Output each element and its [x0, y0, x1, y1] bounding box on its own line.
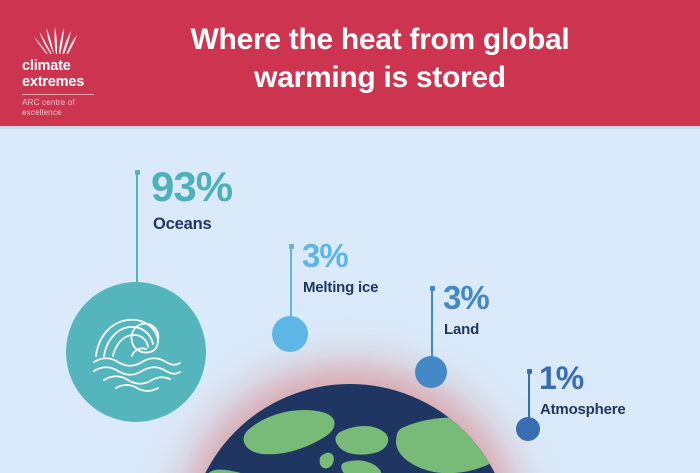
infographic-root: climate extremes ARC centre of excellenc… — [0, 0, 700, 473]
logo-subtitle: ARC centre of excellence — [22, 98, 114, 117]
page-title-line-2: warming is stored — [120, 59, 640, 97]
marker-melting-ice-circle[interactable] — [272, 316, 308, 352]
marker-melting-ice-label: Melting ice — [303, 279, 378, 296]
logo-subtitle-line-1: ARC centre of — [22, 98, 75, 107]
header-banner: climate extremes ARC centre of excellenc… — [0, 0, 700, 126]
page-title: Where the heat from global warming is st… — [120, 21, 640, 97]
marker-melting-ice-value: 3% — [302, 239, 348, 272]
marker-land-circle[interactable] — [415, 356, 447, 388]
header-divider — [0, 126, 700, 129]
logo-subtitle-line-2: excellence — [22, 108, 62, 117]
climate-extremes-fan-logo-icon — [28, 26, 82, 54]
logo-divider — [22, 94, 94, 95]
logo-wordmark-line-2: extremes — [22, 74, 84, 90]
marker-oceans-value: 93% — [151, 166, 232, 208]
ocean-wave-icon — [90, 316, 182, 397]
marker-land-leader-line — [431, 290, 433, 360]
marker-atmosphere-leader-line — [528, 373, 530, 423]
marker-land-value: 3% — [443, 281, 489, 314]
marker-land-label: Land — [444, 321, 479, 338]
marker-oceans-circle[interactable] — [66, 282, 206, 422]
marker-atmosphere-label: Atmosphere — [540, 401, 626, 418]
marker-atmosphere-circle[interactable] — [516, 417, 540, 441]
marker-atmosphere-value: 1% — [539, 362, 583, 394]
logo-wordmark-line-1: climate — [22, 58, 71, 74]
marker-melting-ice-leader-line — [290, 248, 292, 320]
page-title-line-1: Where the heat from global — [120, 21, 640, 59]
marker-oceans-leader-line — [136, 174, 138, 286]
marker-oceans-label: Oceans — [153, 215, 211, 234]
logo-wordmark: climate extremes — [22, 59, 114, 90]
climate-extremes-logo: climate extremes ARC centre of excellenc… — [22, 26, 114, 117]
